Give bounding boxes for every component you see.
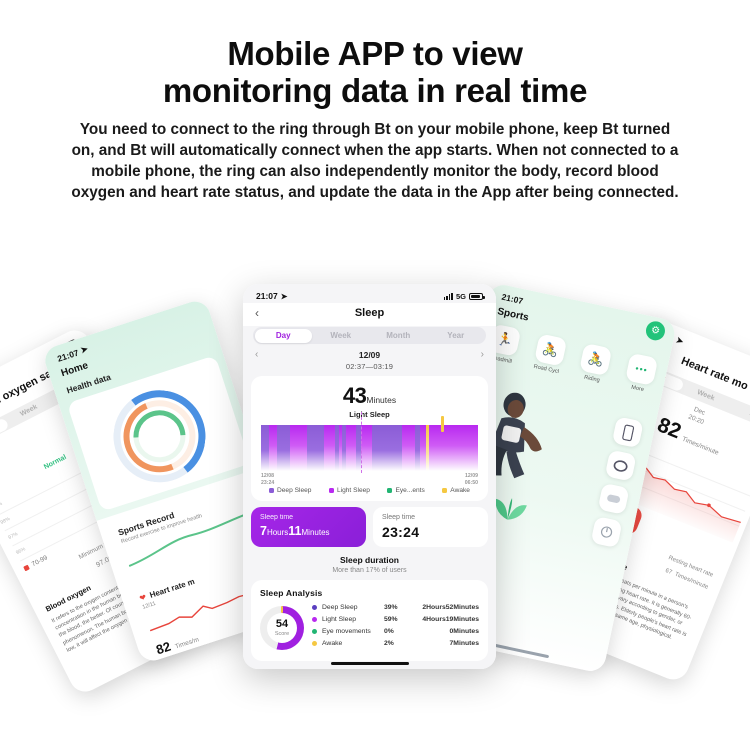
tab-week[interactable]: Week <box>312 329 370 343</box>
row-dot-light <box>312 617 317 622</box>
header: Mobile APP to view monitoring data in re… <box>0 0 750 203</box>
sleep-stage-chart[interactable]: 12/08 23:24 12/09 06:50 <box>261 425 478 483</box>
status-bar: 21:07 ➤ 5G <box>243 284 496 303</box>
sleep-summary-cards: Sleep time 7Hours11Minutes Sleep time 23… <box>251 507 488 547</box>
sleep-segment-deep <box>261 425 269 471</box>
row-dur-eye: 0Minutes <box>412 628 479 635</box>
row-pct-eye: 0% <box>384 628 412 635</box>
highlight-duration: 43Minutes <box>259 383 480 409</box>
promo-page: Mobile APP to view monitoring data in re… <box>0 0 750 750</box>
resting-value: 67 <box>664 568 672 576</box>
home-indicator <box>331 662 409 665</box>
sleep-segment-light <box>269 425 278 471</box>
row-dot-eye <box>312 629 317 634</box>
total-hours: 7 <box>260 524 267 538</box>
legend-item: Eye...ents <box>387 487 424 494</box>
phone-device-icon[interactable] <box>612 416 644 448</box>
row-name-eye: Eye movements <box>322 628 384 635</box>
sleep-chart-card: 43Minutes Light Sleep 12/08 23:24 12/09 … <box>251 376 488 501</box>
duration-subtitle: More than 17% of users <box>243 567 496 574</box>
phone-sleep[interactable]: 21:07 ➤ 5G ‹ Sleep Day Week M <box>243 284 496 669</box>
phone-mockup-stage: 21:07 ‹ Blood oxygen satur Day Week Dec … <box>0 262 750 750</box>
row-pct-light: 59% <box>384 616 412 623</box>
total-sleep-card[interactable]: Sleep time 7Hours11Minutes <box>251 507 366 547</box>
sleep-segment-deep <box>277 425 290 471</box>
total-minutes: 11 <box>288 524 301 538</box>
row-dot-deep <box>312 605 317 610</box>
bedtime-card[interactable]: Sleep time 23:24 <box>373 507 488 547</box>
row-name-light: Light Sleep <box>322 616 384 623</box>
analysis-row: Light Sleep59%4Hours19Minutes <box>312 616 479 623</box>
sport-label: Road Cycl <box>531 363 562 375</box>
row-name-awake: Awake <box>322 640 384 647</box>
total-minutes-unit: Minutes <box>302 528 330 537</box>
sleep-time-range: 02:37—03:19 <box>243 362 496 371</box>
sleep-segment-light <box>290 425 306 471</box>
legend-label-eye: Eye...ents <box>395 487 424 494</box>
row-dur-awake: 7Minutes <box>412 640 479 647</box>
page-title: Mobile APP to view monitoring data in re… <box>0 0 750 110</box>
axis-right-time: 06:50 <box>465 480 478 487</box>
sleep-segment-light <box>402 425 415 471</box>
sleep-title: Sleep <box>269 307 470 319</box>
activity-rings <box>102 378 218 494</box>
row-pct-awake: 2% <box>384 640 412 647</box>
bedtime-value: 23:24 <box>382 524 419 540</box>
bicycle-icon: 🚴 <box>534 333 567 366</box>
heart-value: 82 <box>154 639 172 658</box>
sport-item-more[interactable]: ••• More <box>622 352 659 394</box>
analysis-row: Eye movements0%0Minutes <box>312 628 479 635</box>
total-sleep-label: Sleep time <box>260 514 357 521</box>
status-time: 21:07 <box>256 291 278 301</box>
row-dur-light: 4Hours19Minutes <box>412 616 479 623</box>
analysis-row: Awake2%7Minutes <box>312 640 479 647</box>
sleep-score-ring: 54 Score <box>260 606 304 650</box>
network-label: 5G <box>456 292 466 301</box>
legend-swatch-eye <box>387 488 392 493</box>
highlight-unit: Minutes <box>366 395 396 405</box>
signal-icon <box>444 293 453 300</box>
bedtime-label: Sleep time <box>382 514 479 521</box>
title-line-2: monitoring data in real time <box>0 73 750 110</box>
period-tabs[interactable]: Day Week Month Year <box>253 327 486 344</box>
legend-label-awake: Awake <box>450 487 470 494</box>
row-pct-deep: 39% <box>384 604 412 611</box>
axis-left-time: 23:24 <box>261 480 274 487</box>
sleep-segment-light <box>361 425 372 471</box>
current-date: 12/09 <box>359 350 380 360</box>
legend-swatch-deep <box>269 488 274 493</box>
duration-title: Sleep duration <box>243 555 496 565</box>
more-dots-icon: ••• <box>625 353 658 386</box>
location-arrow-icon: ➤ <box>79 343 89 356</box>
row-dur-deep: 2Hours52Minutes <box>412 604 479 611</box>
legend-label-light: Light Sleep <box>337 487 370 494</box>
power-icon[interactable] <box>591 516 623 548</box>
highlight-value: 43 <box>343 383 366 408</box>
chart-marker-line <box>361 412 362 473</box>
legend-swatch-light <box>329 488 334 493</box>
ring-device-icon[interactable] <box>605 450 637 482</box>
score-label: Score <box>275 631 289 637</box>
battery-icon <box>469 293 483 300</box>
chart-axis-labels: 12/08 23:24 12/09 06:50 <box>261 473 478 486</box>
back-icon[interactable]: ‹ <box>255 306 269 320</box>
axis-right-date: 12/09 <box>465 473 478 480</box>
riding-icon: 🚴 <box>579 343 612 376</box>
analysis-row: Deep Sleep39%2Hours52Minutes <box>312 604 479 611</box>
prev-day-button[interactable]: ‹ <box>255 349 258 360</box>
tab-year[interactable]: Year <box>427 329 485 343</box>
sleep-segment-deep <box>307 425 324 471</box>
tab-month[interactable]: Month <box>370 329 428 343</box>
location-arrow-icon: ➤ <box>281 292 288 301</box>
hr-unit: Times/minute <box>681 435 720 456</box>
sleep-analysis-card: Sleep Analysis 54 Score Deep Sleep39%2Ho… <box>251 580 488 661</box>
band-device-icon[interactable] <box>598 483 630 515</box>
title-line-1: Mobile APP to view <box>227 35 522 72</box>
sleep-segment-light <box>324 425 335 471</box>
sport-item-road-cycling[interactable]: 🚴 Road Cycl <box>531 333 568 375</box>
analysis-title: Sleep Analysis <box>260 588 479 598</box>
legend-item: Light Sleep <box>329 487 370 494</box>
next-day-button[interactable]: › <box>481 349 484 360</box>
heart-icon: ❤ <box>138 593 147 604</box>
sleep-duration-block: Sleep duration More than 17% of users <box>243 555 496 574</box>
sport-item-riding[interactable]: 🚴 Riding <box>577 343 614 385</box>
total-hours-unit: Hours <box>267 528 288 537</box>
legend-item: Awake <box>442 487 470 494</box>
sport-label: More <box>622 383 653 395</box>
sleep-screen: 21:07 ➤ 5G ‹ Sleep Day Week M <box>243 284 496 669</box>
date-selector[interactable]: ‹ 12/09 › <box>243 344 496 360</box>
score-value: 54 <box>276 619 288 630</box>
sleep-segment-light <box>346 425 356 471</box>
row-name-deep: Deep Sleep <box>322 604 384 611</box>
heart-unit: Times/m <box>174 636 200 650</box>
row-dot-awake <box>312 641 317 646</box>
sport-label: Riding <box>577 373 608 385</box>
legend-swatch-awake <box>442 488 447 493</box>
sleep-navbar: ‹ Sleep <box>243 303 496 326</box>
legend-label-deep: Deep Sleep <box>277 487 311 494</box>
sleep-segment-deep <box>372 425 402 471</box>
location-arrow-icon: ➤ <box>674 334 685 347</box>
awake-spike <box>441 416 444 432</box>
sleep-chart-bars <box>261 425 478 471</box>
page-description: You need to connect to the ring through … <box>0 119 750 203</box>
axis-left-date: 12/08 <box>261 473 274 480</box>
highlight-stage: Light Sleep <box>259 410 480 419</box>
tab-day[interactable]: Day <box>255 329 313 343</box>
sleep-segment-light <box>429 425 478 471</box>
analysis-rows: Deep Sleep39%2Hours52Minutes Light Sleep… <box>312 604 479 652</box>
legend-item: Deep Sleep <box>269 487 311 494</box>
